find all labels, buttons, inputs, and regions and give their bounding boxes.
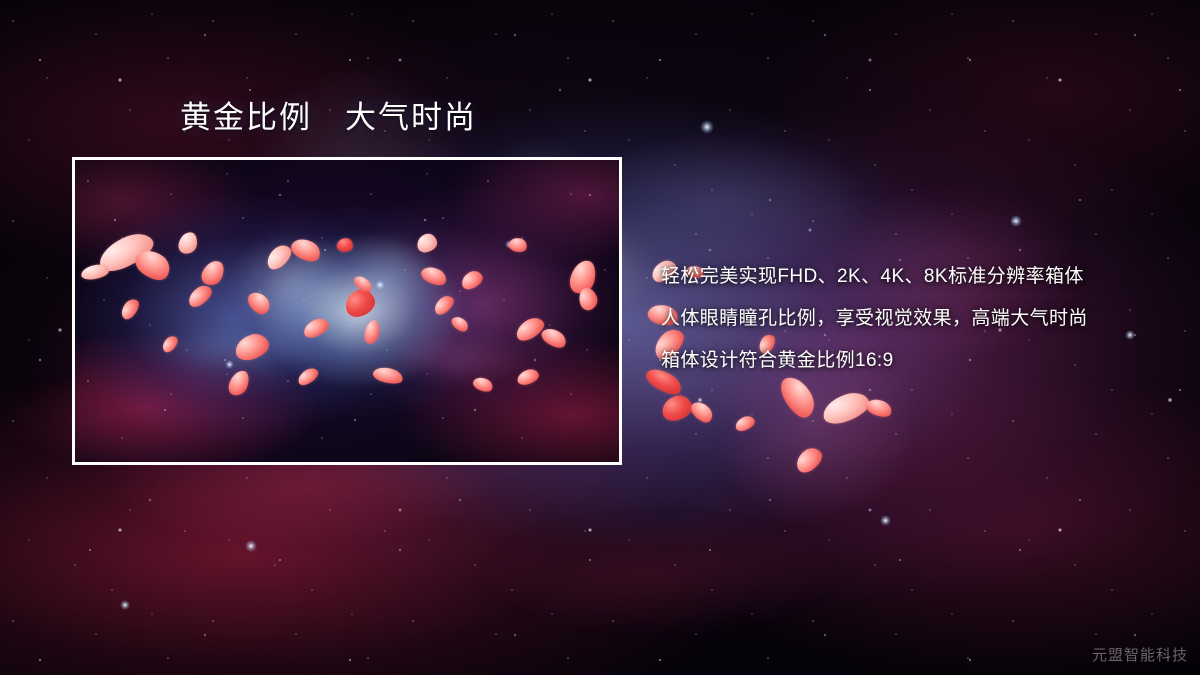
body-line: 轻松完美实现FHD、2K、4K、8K标准分辨率箱体 <box>661 256 1161 298</box>
body-copy-block: 轻松完美实现FHD、2K、4K、8K标准分辨率箱体 人体眼睛瞳孔比例，享受视觉效… <box>661 256 1161 382</box>
watermark: 元盟智能科技 <box>1092 644 1188 665</box>
photo-starfield-medium <box>75 160 619 462</box>
photo-frame-image <box>75 160 619 462</box>
photo-frame[interactable] <box>72 157 622 465</box>
presentation-slide: 黄金比例 大气时尚 轻松完美实现FHD、2K、4K、8K标准分辨率箱体 人体眼睛… <box>0 0 1200 675</box>
body-line: 箱体设计符合黄金比例16:9 <box>661 340 1161 382</box>
body-line: 人体眼睛瞳孔比例，享受视觉效果，高端大气时尚 <box>661 298 1161 340</box>
page-title: 黄金比例 大气时尚 <box>180 99 477 138</box>
